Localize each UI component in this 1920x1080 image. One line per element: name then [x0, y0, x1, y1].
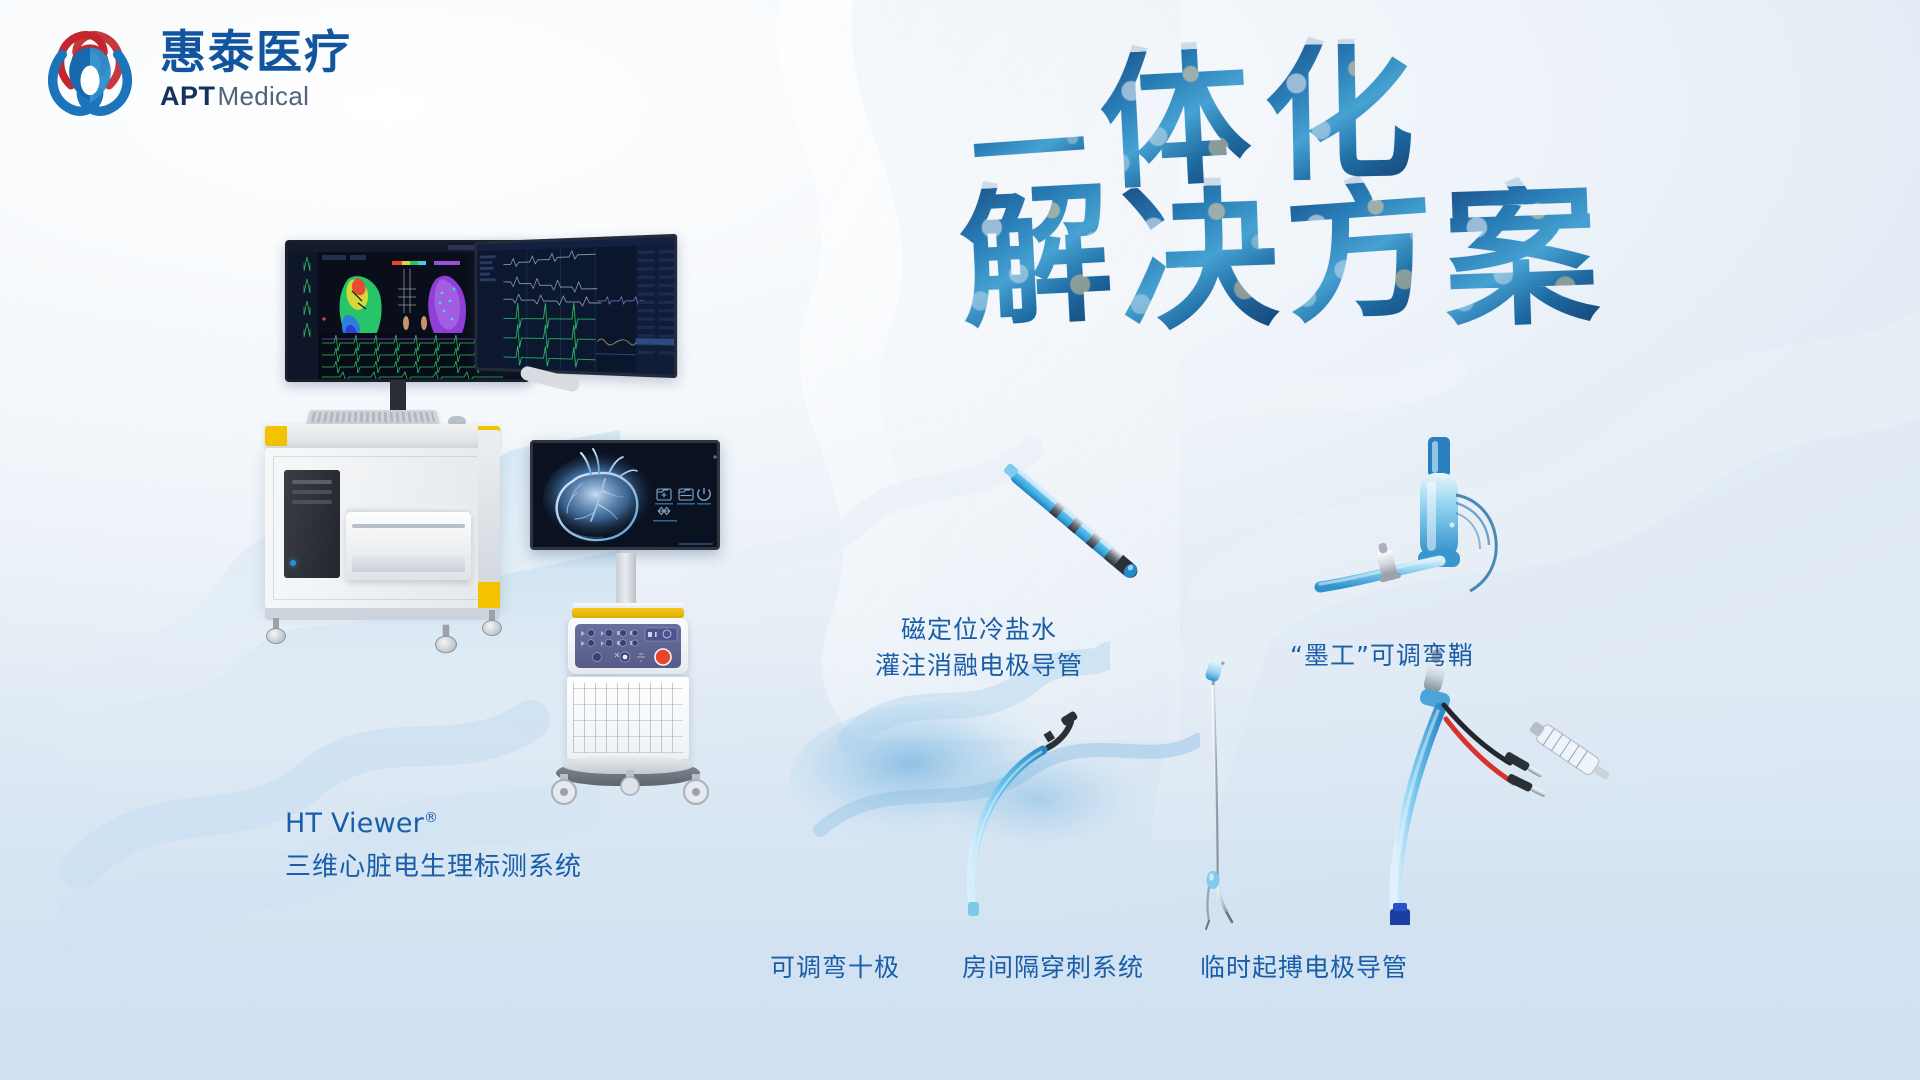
brand-name-en-light: Medical — [218, 81, 310, 112]
temporary-pacing-lead-illustration — [1360, 645, 1650, 925]
cart-worktop — [265, 424, 500, 448]
transseptal-puncture-system-illustration — [1165, 655, 1285, 945]
brand-logo: 惠泰医疗 APT Medical — [38, 18, 352, 122]
headline-char: 案 — [1442, 183, 1601, 330]
control-panel-face — [575, 624, 681, 668]
caption-steerable-sheath: “墨工”可调弯鞘 — [1290, 638, 1474, 674]
caption-line-2: 灌注消融电极导管 — [875, 648, 1083, 684]
generator-control-panel — [568, 618, 688, 674]
headline-char: 解 — [956, 182, 1115, 330]
cart-caster — [482, 610, 502, 636]
3d-heart-illustration — [533, 443, 720, 550]
panel-connectors — [575, 624, 681, 668]
brand-name-cn: 惠泰医疗 — [160, 28, 352, 76]
caption-line-1: 房间隔穿刺系统 — [962, 950, 1144, 986]
caption-transseptal-system: 房间隔穿刺系统 — [962, 950, 1144, 986]
pc-power-led-icon — [290, 560, 296, 566]
caption-line-1: 临时起搏电极导管 — [1200, 950, 1408, 986]
cart-base — [265, 608, 500, 620]
heart-display-cart — [530, 440, 780, 860]
brand-name-en-bold: APT — [160, 81, 216, 112]
cart-caster — [266, 618, 286, 644]
trademark-symbol: ® — [424, 810, 438, 826]
cart-shelf-yellow-edge — [572, 608, 684, 618]
steerable-sheath-illustration — [1280, 425, 1540, 615]
cart-yellow-accent — [478, 582, 500, 608]
caption-line-1: 可调弯十极 — [770, 950, 900, 986]
apt-medical-heart-logo-icon — [38, 18, 142, 122]
caption-ablation-catheter: 磁定位冷盐水 灌注消融电极导管 — [875, 612, 1083, 683]
ecg-monitor-side — [475, 234, 678, 378]
headline-char: 方 — [1281, 178, 1440, 326]
ablation-catheter-illustration — [975, 445, 1175, 605]
cart-caster — [435, 625, 457, 654]
caption-line-1: “墨工”可调弯鞘 — [1290, 638, 1474, 674]
caption-line-1: 磁定位冷盐水 — [875, 612, 1083, 648]
display-stand-post — [616, 553, 636, 609]
caption-workstation-line1: HT Viewer® — [285, 805, 582, 843]
cart-accent-stripe-left — [265, 426, 287, 446]
decapolar-catheter-illustration — [925, 700, 1105, 930]
headline-char: 决 — [1118, 183, 1281, 334]
cart-storage-basket — [566, 676, 690, 760]
brand-name-en: APT Medical — [160, 81, 352, 112]
printer — [346, 512, 471, 580]
heart-display-screen — [530, 440, 720, 550]
headline-calligraphy: 一 体 化 解 决 方 案 — [960, 40, 1640, 340]
caption-workstation-line2: 三维心脏电生理标测系统 — [285, 849, 582, 886]
caption-workstation: HT Viewer® 三维心脏电生理标测系统 — [285, 805, 582, 886]
keyboard[interactable] — [306, 410, 440, 424]
poster-canvas: 惠泰医疗 APT Medical 一 体 化 解 决 方 案 — [0, 0, 1920, 1080]
ecg-waveform-screen — [477, 237, 677, 378]
product-name-en: HT Viewer — [285, 808, 424, 839]
caption-decapolar-catheter: 可调弯十极 — [770, 950, 900, 986]
headline-line-2: 解 决 方 案 — [960, 180, 1598, 325]
caption-temporary-pacing-lead: 临时起搏电极导管 — [1200, 950, 1408, 986]
brand-wordmark: 惠泰医疗 APT Medical — [160, 28, 352, 111]
